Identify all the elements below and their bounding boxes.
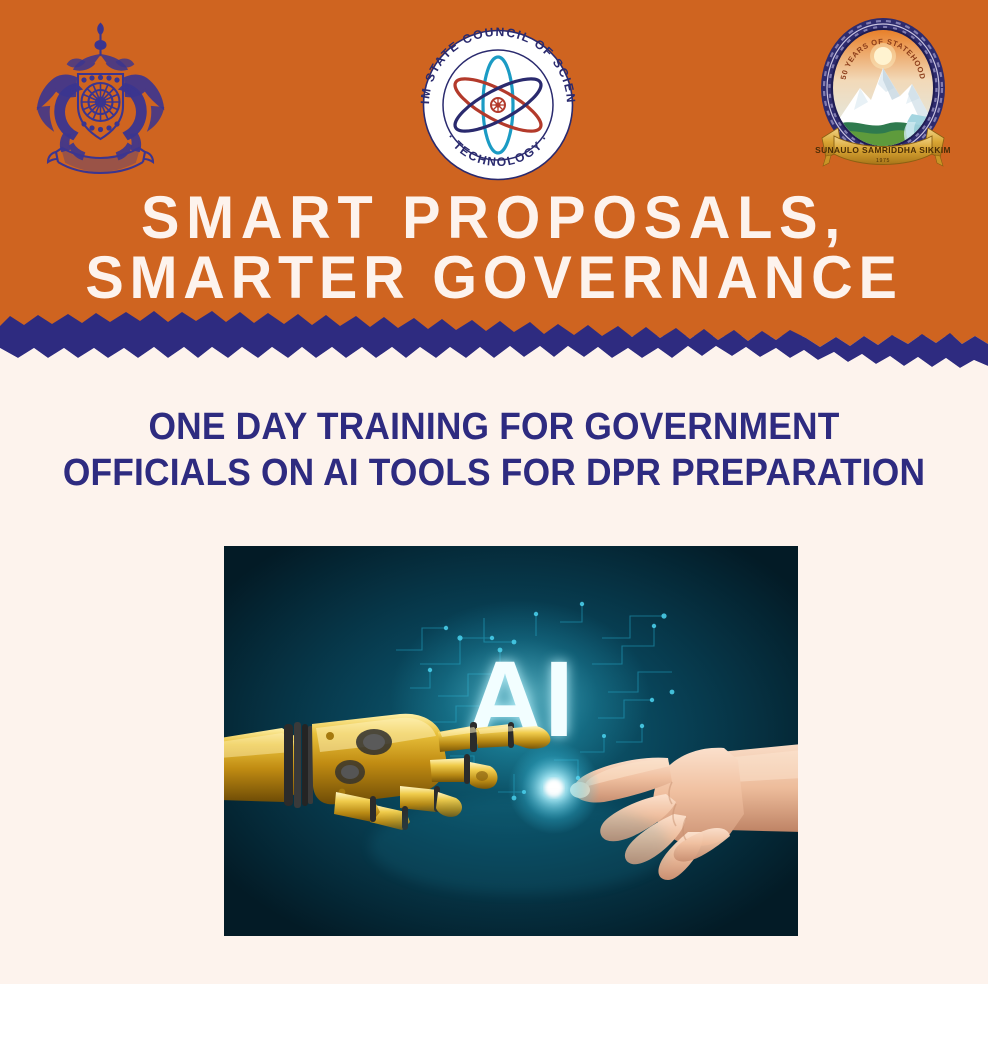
government-of-sikkim-emblem-icon [18,18,183,178]
poster-title-line-1: SMART PROPOSALS, [20,188,968,248]
poster-subtitle: ONE DAY TRAINING FOR GOVERNMENT OFFICIAL… [0,404,988,496]
ai-human-robot-handshake-photo: AI AI [224,546,798,936]
header-band: SIKKIM STATE COUNCIL OF SCIENCE & · TECH… [0,0,988,340]
logo-row: SIKKIM STATE COUNCIL OF SCIENCE & · TECH… [0,18,988,178]
poster-subtitle-line-2: OFFICIALS ON AI TOOLS FOR DPR PREPARATIO… [35,450,954,496]
footer-white-strip [0,984,988,1037]
poster-canvas: SIKKIM STATE COUNCIL OF SCIENCE & · TECH… [0,0,988,1037]
sikkim-state-council-of-science-and-technology-logo-icon: SIKKIM STATE COUNCIL OF SCIENCE & · TECH… [408,18,588,183]
svg-text:1975: 1975 [876,158,890,164]
sikkim-statehood-golden-jubilee-logo-icon: 50 YEARS OF STATEHOOD [808,18,958,178]
poster-title-line-2: SMARTER GOVERNANCE [20,248,968,308]
poster-subtitle-line-1: ONE DAY TRAINING FOR GOVERNMENT [35,404,954,450]
poster-title: SMART PROPOSALS, SMARTER GOVERNANCE [0,188,988,308]
svg-text:SUNAULO SAMRIDDHA SIKKIM: SUNAULO SAMRIDDHA SIKKIM [815,145,951,155]
